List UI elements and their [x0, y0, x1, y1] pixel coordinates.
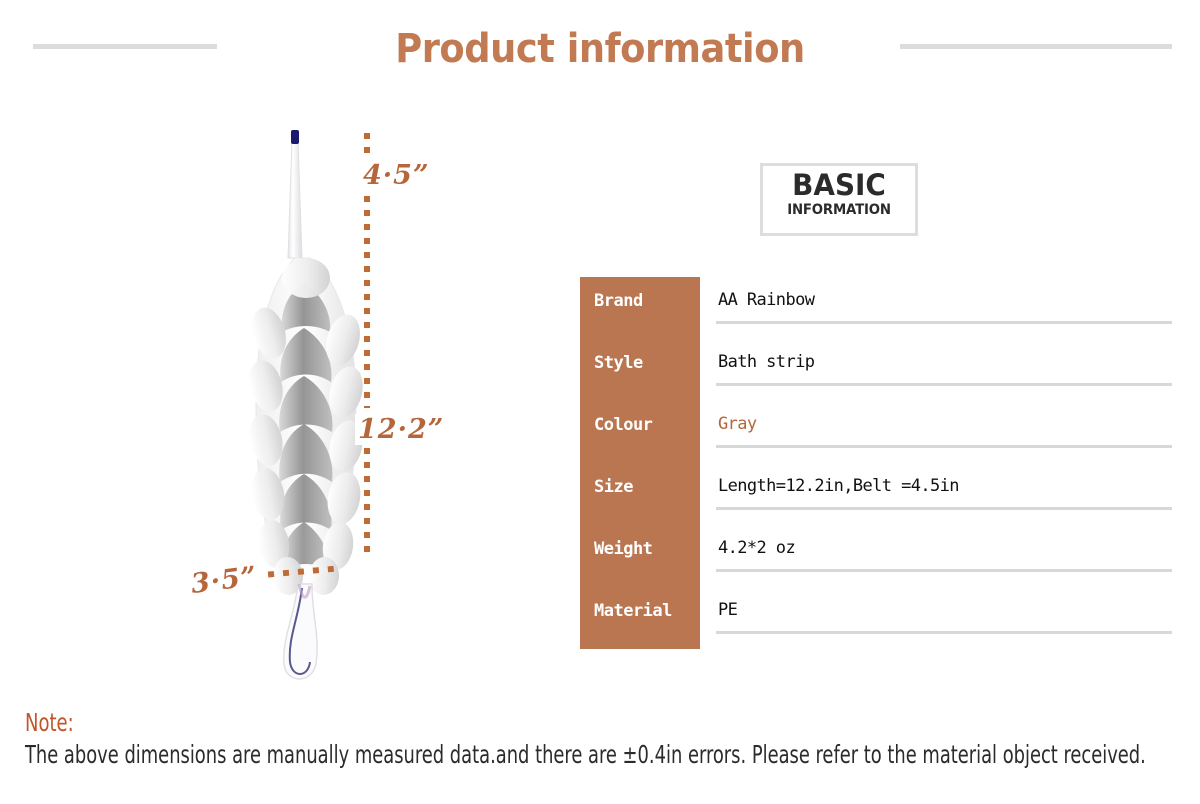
- specification-table: Brand AA Rainbow Style Bath strip Colour…: [580, 277, 1172, 649]
- spec-row-underline: [716, 383, 1172, 386]
- spec-label-brand: Brand: [594, 291, 700, 311]
- spec-label-size: Size: [594, 477, 700, 497]
- spec-label-colour: Colour: [594, 415, 700, 435]
- badge-title: BASIC: [766, 169, 912, 202]
- spec-value-weight: 4.2*2 oz: [718, 538, 795, 558]
- note-section: Note: The above dimensions are manually …: [25, 708, 1185, 772]
- spec-row-underline: [716, 631, 1172, 634]
- note-title: Note:: [25, 708, 953, 738]
- spec-value-size: Length=12.2in,Belt =4.5in: [718, 476, 959, 496]
- table-row: Material PE: [580, 587, 1172, 649]
- spec-label-material: Material: [594, 601, 700, 621]
- spec-row-underline: [716, 507, 1172, 510]
- spec-value-style: Bath strip: [718, 352, 814, 372]
- dimension-dotted-line-bottom: [364, 448, 370, 558]
- table-row: Size Length=12.2in,Belt =4.5in: [580, 463, 1172, 525]
- note-body: The above dimensions are manually measur…: [25, 738, 947, 772]
- dimension-dotted-line-middle: [364, 196, 370, 408]
- dimension-dotted-line-top: [364, 133, 370, 163]
- header-rule-right: [900, 44, 1172, 49]
- page-title: Product information: [48, 26, 1152, 72]
- badge-subtitle: INFORMATION: [767, 202, 911, 219]
- dimension-label-body-length: 12·2”: [355, 414, 447, 445]
- dimension-label-strap-length: 4·5”: [360, 160, 433, 191]
- page-header: Product information: [0, 0, 1200, 95]
- spec-label-weight: Weight: [594, 539, 700, 559]
- table-row: Weight 4.2*2 oz: [580, 525, 1172, 587]
- spec-value-brand: AA Rainbow: [718, 290, 814, 310]
- table-row: Style Bath strip: [580, 339, 1172, 401]
- table-row: Colour Gray: [580, 401, 1172, 463]
- spec-row-underline: [716, 569, 1172, 572]
- spec-label-style: Style: [594, 353, 700, 373]
- table-row: Brand AA Rainbow: [580, 277, 1172, 339]
- spec-row-underline: [716, 445, 1172, 448]
- spec-value-colour: Gray: [718, 414, 757, 434]
- spec-value-material: PE: [718, 600, 737, 620]
- spec-row-underline: [716, 321, 1172, 324]
- basic-information-badge: BASIC INFORMATION: [760, 163, 918, 236]
